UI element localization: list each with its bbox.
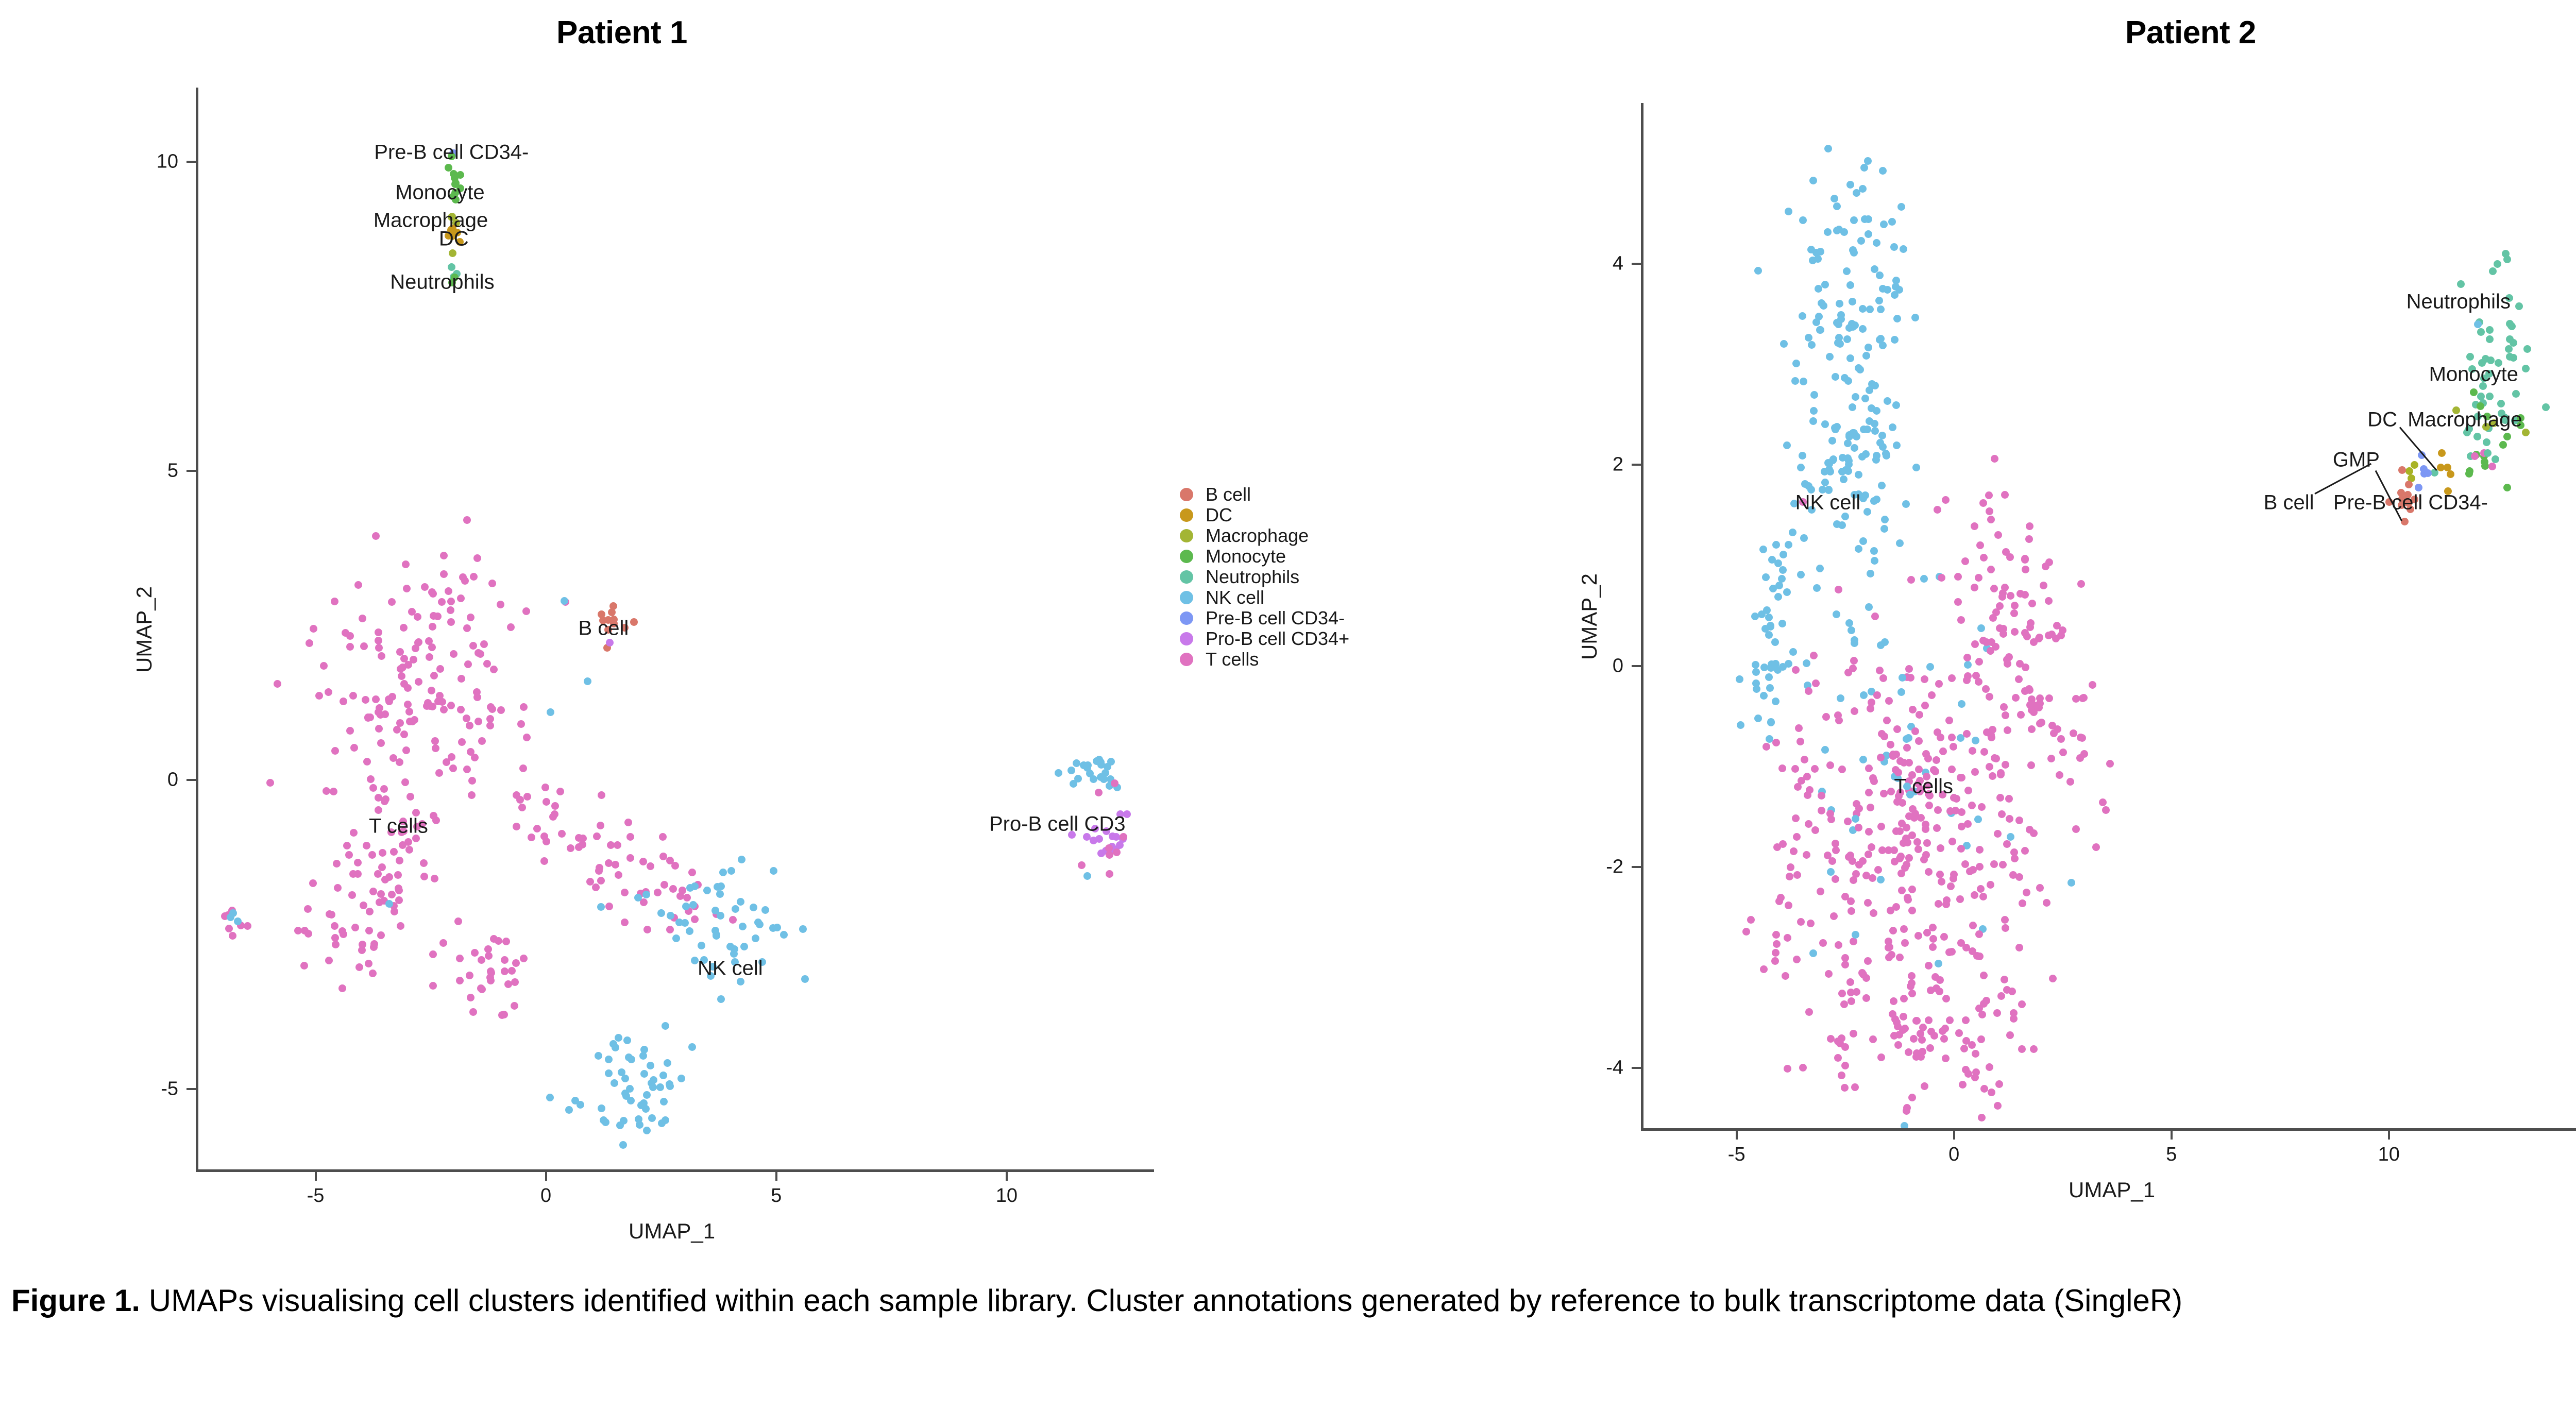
scatter-point xyxy=(1863,508,1871,516)
scatter-point xyxy=(2036,700,2044,707)
scatter-point xyxy=(1090,837,1097,844)
scatter-point xyxy=(1998,593,2006,601)
scatter-point xyxy=(1869,874,1876,882)
legend-item[interactable]: Monocyte xyxy=(1180,546,1349,567)
scatter-point xyxy=(691,915,699,923)
scatter-point xyxy=(1849,298,1856,305)
scatter-point xyxy=(1972,672,1980,679)
scatter-point xyxy=(2002,761,2009,769)
scatter-point xyxy=(355,963,363,971)
scatter-point xyxy=(382,795,389,803)
scatter-point xyxy=(436,665,444,673)
scatter-point xyxy=(605,903,613,910)
scatter-point xyxy=(621,624,629,632)
scatter-point xyxy=(754,919,762,926)
scatter-point xyxy=(2030,638,2038,646)
scatter-point xyxy=(1844,818,1852,825)
figure-caption-label: Figure 1. xyxy=(11,1283,140,1318)
y-axis-tick xyxy=(187,1088,196,1090)
scatter-point xyxy=(1908,907,1916,914)
legend-item[interactable]: Macrophage xyxy=(1180,525,1349,546)
scatter-point xyxy=(1851,707,1858,715)
scatter-point xyxy=(1893,441,1901,449)
scatter-point xyxy=(2471,452,2479,460)
scatter-point xyxy=(579,835,587,842)
legend-item[interactable]: T cells xyxy=(1180,649,1349,670)
scatter-point xyxy=(1935,900,1942,908)
scatter-point xyxy=(533,825,541,832)
scatter-point xyxy=(1934,806,1942,814)
scatter-point xyxy=(740,943,748,950)
scatter-point xyxy=(1821,468,1828,475)
scatter-point xyxy=(614,841,621,849)
scatter-point xyxy=(360,642,368,650)
scatter-point xyxy=(621,1075,629,1082)
scatter-point xyxy=(2023,889,2030,896)
scatter-point xyxy=(2007,592,2014,600)
legend-item-label: Neutrophils xyxy=(1206,566,1299,588)
scatter-point xyxy=(1982,685,1990,693)
scatter-point xyxy=(1907,982,1914,990)
scatter-point xyxy=(1832,875,1839,883)
scatter-point xyxy=(1807,486,1815,494)
scatter-point xyxy=(2045,558,2053,566)
scatter-point xyxy=(1867,705,1874,712)
scatter-point xyxy=(1926,663,1934,671)
scatter-point xyxy=(1809,177,1817,184)
scatter-point xyxy=(396,719,404,727)
scatter-point xyxy=(1908,972,1916,980)
scatter-point xyxy=(1850,938,1857,945)
scatter-point xyxy=(1799,216,1807,224)
scatter-point xyxy=(1813,584,1821,592)
scatter-point xyxy=(1104,763,1111,771)
scatter-point xyxy=(1848,997,1855,1005)
scatter-point xyxy=(431,737,439,745)
scatter-point xyxy=(428,687,435,694)
scatter-point xyxy=(2023,633,2031,640)
scatter-plot-patient-2: 420-2-4-50510UMAP_1UMAP_2NeutrophilsMono… xyxy=(1641,103,2576,1128)
scatter-point xyxy=(2510,354,2517,362)
scatter-point xyxy=(2479,382,2487,390)
scatter-point xyxy=(1929,943,1937,951)
scatter-point xyxy=(1754,267,1762,275)
scatter-point xyxy=(1996,624,2004,632)
scatter-point xyxy=(2406,505,2414,513)
scatter-point xyxy=(2021,847,2029,855)
scatter-point xyxy=(398,672,405,680)
scatter-point xyxy=(473,688,481,696)
scatter-point xyxy=(2483,438,2490,446)
scatter-point xyxy=(597,877,605,885)
scatter-point xyxy=(1991,455,1998,463)
scatter-point xyxy=(1824,145,1832,152)
scatter-point xyxy=(1905,665,1913,673)
scatter-point xyxy=(799,925,807,933)
scatter-point xyxy=(643,926,651,933)
scatter-point xyxy=(463,715,470,722)
scatter-point xyxy=(1832,840,1839,847)
scatter-point xyxy=(439,939,447,947)
scatter-point xyxy=(1097,849,1105,857)
scatter-point xyxy=(666,1080,673,1088)
scatter-point xyxy=(1093,757,1100,765)
scatter-point xyxy=(1871,557,1878,565)
scatter-point xyxy=(1852,815,1859,823)
scatter-point xyxy=(2515,302,2523,310)
scatter-point xyxy=(486,722,494,729)
scatter-point xyxy=(2026,623,2034,631)
scatter-point xyxy=(628,1056,635,1063)
scatter-point xyxy=(1889,927,1897,934)
scatter-point xyxy=(445,164,452,172)
scatter-point xyxy=(1809,417,1817,425)
scatter-point xyxy=(1971,891,1978,899)
scatter-point xyxy=(1790,847,1798,855)
scatter-point xyxy=(1921,1082,1928,1090)
scatter-point xyxy=(659,833,667,841)
scatter-point xyxy=(304,930,312,938)
scatter-point xyxy=(1804,791,1811,799)
y-axis-tick xyxy=(1632,665,1641,667)
scatter-point xyxy=(378,652,385,660)
scatter-point xyxy=(660,1098,668,1106)
scatter-point xyxy=(2517,421,2524,429)
scatter-point xyxy=(2486,326,2494,334)
y-axis-tick xyxy=(1632,263,1641,265)
scatter-point xyxy=(1929,924,1937,931)
scatter-point xyxy=(370,943,378,951)
panel-patient-2: Patient 2 420-2-4-50510UMAP_1UMAP_2Neutr… xyxy=(1525,0,2576,1272)
legend-swatch-icon xyxy=(1180,653,1193,666)
legend-item-label: B cell xyxy=(1206,484,1251,505)
scatter-point xyxy=(2072,825,2080,833)
scatter-point xyxy=(2005,795,2013,803)
scatter-point xyxy=(1812,679,1820,687)
scatter-point xyxy=(449,249,456,257)
scatter-point xyxy=(1805,334,1812,342)
scatter-point xyxy=(2070,729,2077,737)
y-axis-tick-label: 4 xyxy=(1613,253,1623,275)
scatter-point xyxy=(556,788,564,795)
scatter-point xyxy=(584,677,591,685)
scatter-point xyxy=(752,934,759,942)
x-axis-tick xyxy=(315,1171,317,1181)
scatter-point xyxy=(1816,565,1824,572)
y-axis-tick-label: 0 xyxy=(167,769,178,791)
scatter-point xyxy=(2001,584,2009,591)
scatter-point xyxy=(1927,987,1935,994)
scatter-point xyxy=(1870,547,1878,555)
scatter-point xyxy=(1933,756,1940,764)
scatter-point xyxy=(561,597,568,605)
scatter-point xyxy=(1914,845,1922,853)
scatter-point xyxy=(2495,359,2502,367)
scatter-point xyxy=(2057,632,2065,639)
scatter-point xyxy=(1925,868,1933,876)
scatter-point xyxy=(517,720,525,728)
scatter-point xyxy=(1938,574,1945,582)
scatter-point xyxy=(2523,345,2531,353)
scatter-point xyxy=(466,972,473,979)
scatter-point xyxy=(2522,429,2530,436)
scatter-point xyxy=(1897,870,1905,877)
scatter-point xyxy=(1892,903,1900,911)
scatter-point xyxy=(396,857,403,864)
scatter-point xyxy=(1859,325,1867,333)
scatter-point xyxy=(2053,622,2061,630)
scatter-point xyxy=(395,885,402,892)
scatter-point xyxy=(565,1106,573,1114)
scatter-point xyxy=(551,802,559,810)
scatter-point xyxy=(1846,978,1854,986)
scatter-point xyxy=(2008,988,2016,995)
legend-item[interactable]: B cell xyxy=(1180,484,1349,505)
scatter-point xyxy=(1990,860,1998,868)
figure-caption-text: UMAPs visualising cell clusters identifi… xyxy=(140,1283,2182,1318)
scatter-point xyxy=(346,727,354,735)
scatter-point xyxy=(654,889,662,896)
scatter-point xyxy=(450,650,457,658)
scatter-point xyxy=(1998,810,2006,818)
scatter-point xyxy=(1833,610,1840,618)
scatter-point xyxy=(700,956,708,964)
scatter-point xyxy=(1935,960,1942,967)
scatter-point xyxy=(1922,821,1929,828)
legend-item[interactable]: Neutrophils xyxy=(1180,567,1349,587)
scatter-point xyxy=(605,1069,613,1077)
scatter-point xyxy=(1817,888,1824,895)
scatter-point xyxy=(597,903,605,911)
scatter-point xyxy=(2420,465,2428,473)
scatter-point xyxy=(727,867,735,875)
scatter-point xyxy=(1834,339,1842,347)
scatter-point xyxy=(703,887,711,894)
scatter-point xyxy=(508,967,516,975)
scatter-point xyxy=(445,587,452,595)
scatter-point xyxy=(656,1083,664,1091)
scatter-point xyxy=(2004,726,2011,734)
scatter-point xyxy=(709,963,717,971)
scatter-point xyxy=(1978,1114,1986,1121)
scatter-point xyxy=(1996,794,2004,802)
scatter-point xyxy=(738,856,745,863)
scatter-point xyxy=(463,624,471,632)
scatter-point xyxy=(1956,895,1964,903)
scatter-point xyxy=(457,594,465,602)
scatter-point xyxy=(567,844,574,852)
scatter-point xyxy=(1898,887,1906,894)
scatter-point xyxy=(1980,748,1988,756)
scatter-point xyxy=(1942,900,1950,908)
scatter-point xyxy=(1819,939,1827,947)
scatter-point xyxy=(1885,697,1893,705)
scatter-point xyxy=(1974,815,1982,823)
scatter-point xyxy=(1935,680,1943,688)
scatter-point xyxy=(1737,721,1744,729)
scatter-point xyxy=(1833,227,1841,234)
scatter-point xyxy=(1789,529,1797,536)
scatter-point xyxy=(1990,585,1998,592)
scatter-point xyxy=(1883,717,1891,724)
scatter-point xyxy=(480,640,488,648)
scatter-point xyxy=(780,931,788,939)
y-axis-tick-label: 2 xyxy=(1613,454,1623,476)
scatter-point xyxy=(1887,788,1895,795)
scatter-point xyxy=(1937,844,1944,852)
scatter-point xyxy=(1765,631,1773,639)
scatter-point xyxy=(497,601,504,608)
scatter-point xyxy=(1940,933,1948,941)
scatter-point xyxy=(1930,1032,1938,1040)
legend-item-label: Pro-B cell CD34+ xyxy=(1206,628,1349,650)
scatter-point xyxy=(1771,957,1779,965)
scatter-point xyxy=(1892,277,1900,284)
scatter-point xyxy=(1786,873,1793,880)
scatter-point xyxy=(2398,466,2406,474)
scatter-point xyxy=(1919,1048,1926,1056)
scatter-point xyxy=(1859,971,1867,978)
legend-item-label: Macrophage xyxy=(1206,525,1309,547)
scatter-point xyxy=(1785,902,1792,909)
scatter-point xyxy=(393,726,401,734)
scatter-point xyxy=(758,958,766,966)
scatter-point xyxy=(2026,701,2034,709)
scatter-point xyxy=(1775,582,1783,589)
scatter-point xyxy=(300,962,308,970)
scatter-point xyxy=(405,708,413,716)
scatter-point xyxy=(351,924,359,931)
scatter-point xyxy=(1936,988,1943,995)
scatter-point xyxy=(1867,570,1874,577)
scatter-point xyxy=(640,1046,648,1053)
scatter-point xyxy=(1821,479,1829,486)
scatter-point xyxy=(2027,761,2035,769)
scatter-point xyxy=(1915,766,1923,773)
scatter-point xyxy=(1969,922,1977,929)
legend-swatch-icon xyxy=(1180,508,1193,522)
scatter-point xyxy=(2102,806,2110,814)
scatter-point xyxy=(1871,382,1879,389)
scatter-point xyxy=(385,695,393,703)
scatter-point xyxy=(1876,271,1884,279)
scatter-point xyxy=(504,980,512,988)
scatter-point xyxy=(1754,715,1762,722)
scatter-point xyxy=(469,1008,477,1016)
scatter-point xyxy=(348,891,356,899)
scatter-point xyxy=(1881,516,1889,523)
scatter-point xyxy=(1948,734,1956,741)
scatter-point xyxy=(1963,676,1971,684)
scatter-point xyxy=(338,927,346,935)
scatter-point xyxy=(1736,675,1743,683)
scatter-point xyxy=(1851,491,1858,499)
scatter-point xyxy=(1778,764,1786,772)
scatter-point xyxy=(354,581,362,589)
scatter-point xyxy=(500,1011,508,1018)
scatter-point xyxy=(1801,756,1808,763)
scatter-point xyxy=(225,925,233,932)
scatter-point xyxy=(1900,759,1908,767)
scatter-point xyxy=(1958,700,1965,708)
plot-canvas-patient-1 xyxy=(196,88,1154,1169)
scatter-point xyxy=(1921,675,1928,683)
scatter-point xyxy=(543,838,550,845)
scatter-point xyxy=(2470,388,2478,396)
scatter-point xyxy=(1791,765,1799,773)
scatter-point xyxy=(1866,305,1874,313)
scatter-point xyxy=(1893,1018,1901,1026)
scatter-point xyxy=(410,656,417,664)
scatter-point xyxy=(2010,848,2018,856)
scatter-point xyxy=(1910,1035,1918,1043)
scatter-point xyxy=(1933,824,1941,832)
scatter-point xyxy=(2076,754,2084,762)
scatter-point xyxy=(1799,1064,1807,1072)
y-axis-tick xyxy=(1632,464,1641,466)
scatter-point xyxy=(2078,734,2086,742)
legend-item[interactable]: DC xyxy=(1180,505,1349,525)
scatter-point xyxy=(372,532,380,540)
scatter-point xyxy=(1873,239,1880,247)
scatter-point xyxy=(458,738,466,746)
legend-item[interactable]: Pro-B cell CD34+ xyxy=(1180,628,1349,649)
scatter-point xyxy=(621,889,629,896)
legend-item[interactable]: NK cell xyxy=(1180,587,1349,608)
scatter-point xyxy=(1866,417,1873,425)
scatter-point xyxy=(2099,798,2107,806)
scatter-point xyxy=(412,644,419,652)
scatter-point xyxy=(1825,486,1833,494)
scatter-point xyxy=(1772,739,1780,746)
scatter-point xyxy=(369,970,377,977)
scatter-point xyxy=(1799,452,1806,460)
scatter-point xyxy=(2542,403,2550,411)
scatter-point xyxy=(1986,693,1993,701)
scatter-point xyxy=(1924,755,1932,762)
scatter-point xyxy=(1982,638,1990,646)
scatter-point xyxy=(2015,817,2023,824)
scatter-point xyxy=(2484,449,2492,457)
scatter-point xyxy=(447,598,455,605)
scatter-point xyxy=(1979,499,1987,507)
scatter-point xyxy=(323,787,330,795)
scatter-point xyxy=(2000,703,2008,711)
scatter-point xyxy=(1845,619,1853,627)
scatter-point xyxy=(2026,522,2033,530)
scatter-point xyxy=(729,916,737,924)
scatter-point xyxy=(1742,928,1750,936)
scatter-point xyxy=(2022,566,2029,573)
scatter-point xyxy=(1838,990,1846,997)
scatter-point xyxy=(1859,537,1867,545)
y-axis-tick xyxy=(187,161,196,163)
legend-item[interactable]: Pre-B cell CD34- xyxy=(1180,608,1349,628)
scatter-point xyxy=(1903,744,1911,752)
scatter-point xyxy=(1826,810,1834,818)
scatter-point xyxy=(1961,557,1969,565)
scatter-point xyxy=(2004,660,2011,668)
scatter-point xyxy=(1923,773,1930,780)
scatter-point xyxy=(2457,280,2465,288)
scatter-point xyxy=(1785,541,1792,549)
scatter-point xyxy=(431,875,438,882)
scatter-point xyxy=(2025,535,2033,543)
scatter-point xyxy=(1803,851,1810,859)
scatter-point xyxy=(402,746,410,754)
scatter-point xyxy=(1947,882,1955,890)
scatter-point xyxy=(1936,871,1944,878)
